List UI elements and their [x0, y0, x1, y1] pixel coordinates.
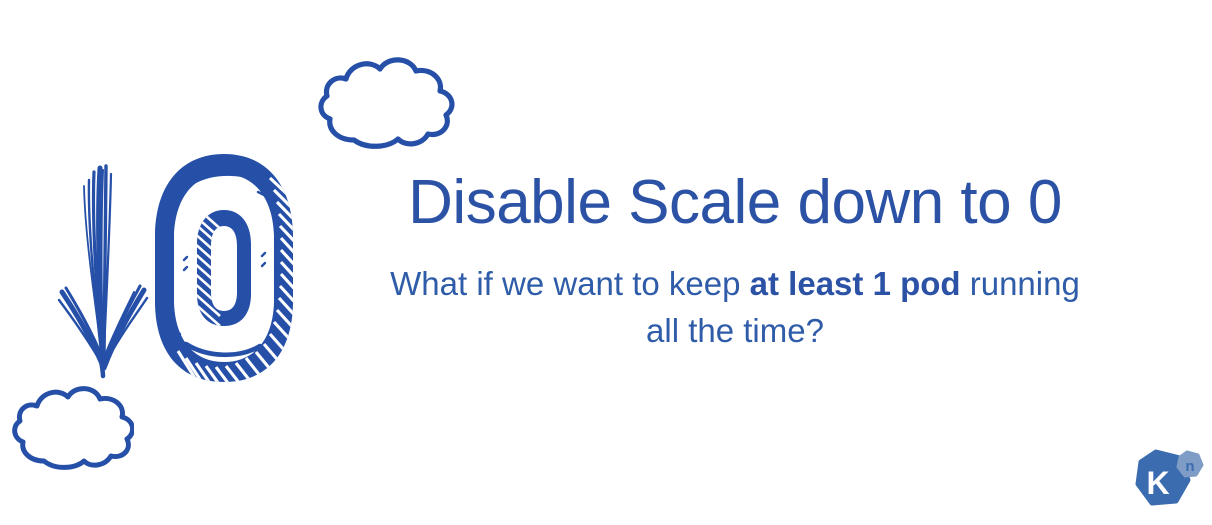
- hand-drawn-zero-icon: [140, 148, 308, 388]
- cloud-outline-icon: [6, 382, 134, 472]
- page-title: Disable Scale down to 0: [330, 168, 1140, 237]
- subtitle: What if we want to keep at least 1 pod r…: [330, 237, 1140, 355]
- brand-logo: K n: [1128, 446, 1206, 520]
- logo-badge-letter: n: [1185, 458, 1194, 475]
- logo-mark-letter: K: [1146, 465, 1169, 501]
- subtitle-lead: What if we want to keep: [390, 265, 750, 302]
- subtitle-tail: running: [961, 265, 1080, 302]
- text-block: Disable Scale down to 0 What if we want …: [330, 168, 1140, 355]
- cloud-outline-icon: [312, 52, 462, 152]
- subtitle-line2: all the time?: [646, 312, 824, 349]
- slide-canvas: Disable Scale down to 0 What if we want …: [0, 0, 1212, 525]
- sketch-down-arrow-icon: [56, 160, 152, 380]
- subtitle-emphasis: at least 1 pod: [750, 265, 961, 302]
